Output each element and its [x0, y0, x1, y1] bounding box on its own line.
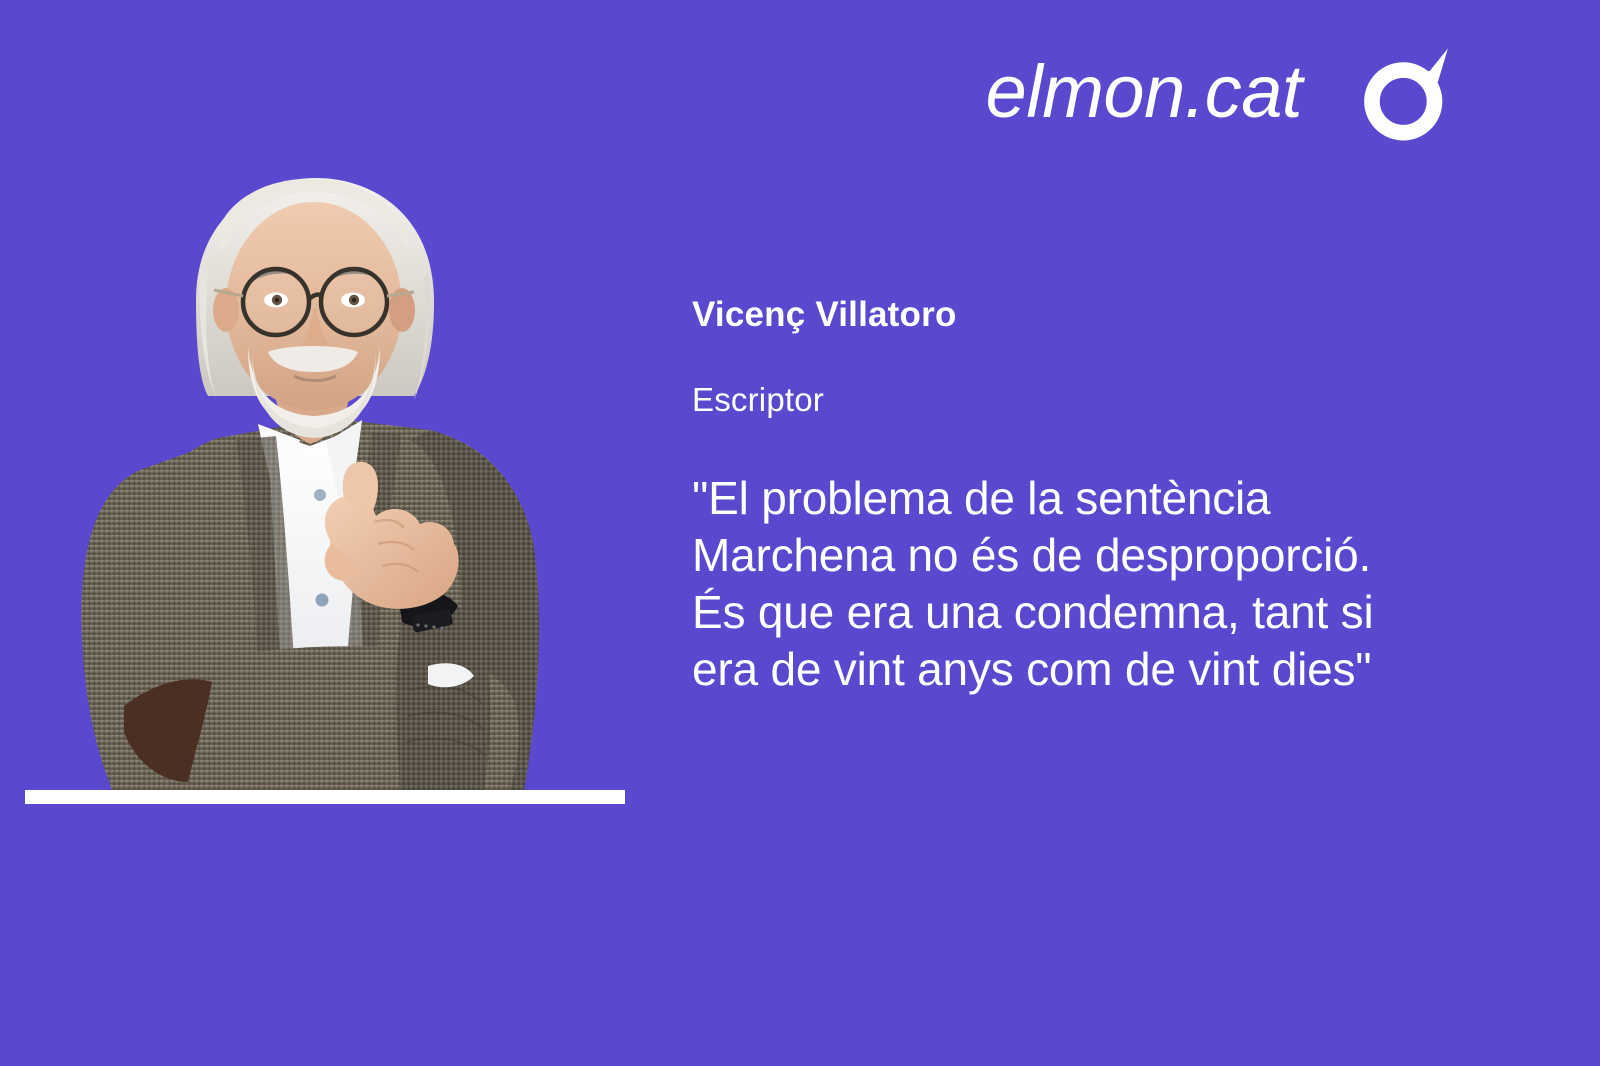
quote-line: "El problema de la sentència [692, 470, 1492, 527]
quote-line: És que era una condemna, tant si [692, 584, 1492, 641]
elmon-circle-swirl-logo-icon [1360, 44, 1452, 140]
quote-line: Marchena no és de desproporció. [692, 527, 1492, 584]
speaker-name: Vicenç Villatoro [692, 296, 1492, 335]
brand-lockup[interactable]: elmon.cat [986, 44, 1452, 140]
speaker-role: Escriptor [692, 382, 1492, 418]
brand-wordmark: elmon.cat [986, 55, 1302, 129]
quote-card: elmon.cat [0, 0, 1600, 1066]
speaker-portrait [0, 0, 640, 795]
quote-text-column: Vicenç Villatoro Escriptor "El problema … [692, 296, 1492, 698]
quote-text: "El problema de la sentència Marchena no… [692, 470, 1492, 698]
photo-underline-rule [25, 790, 625, 804]
quote-line: era de vint anys com de vint dies" [692, 641, 1492, 698]
